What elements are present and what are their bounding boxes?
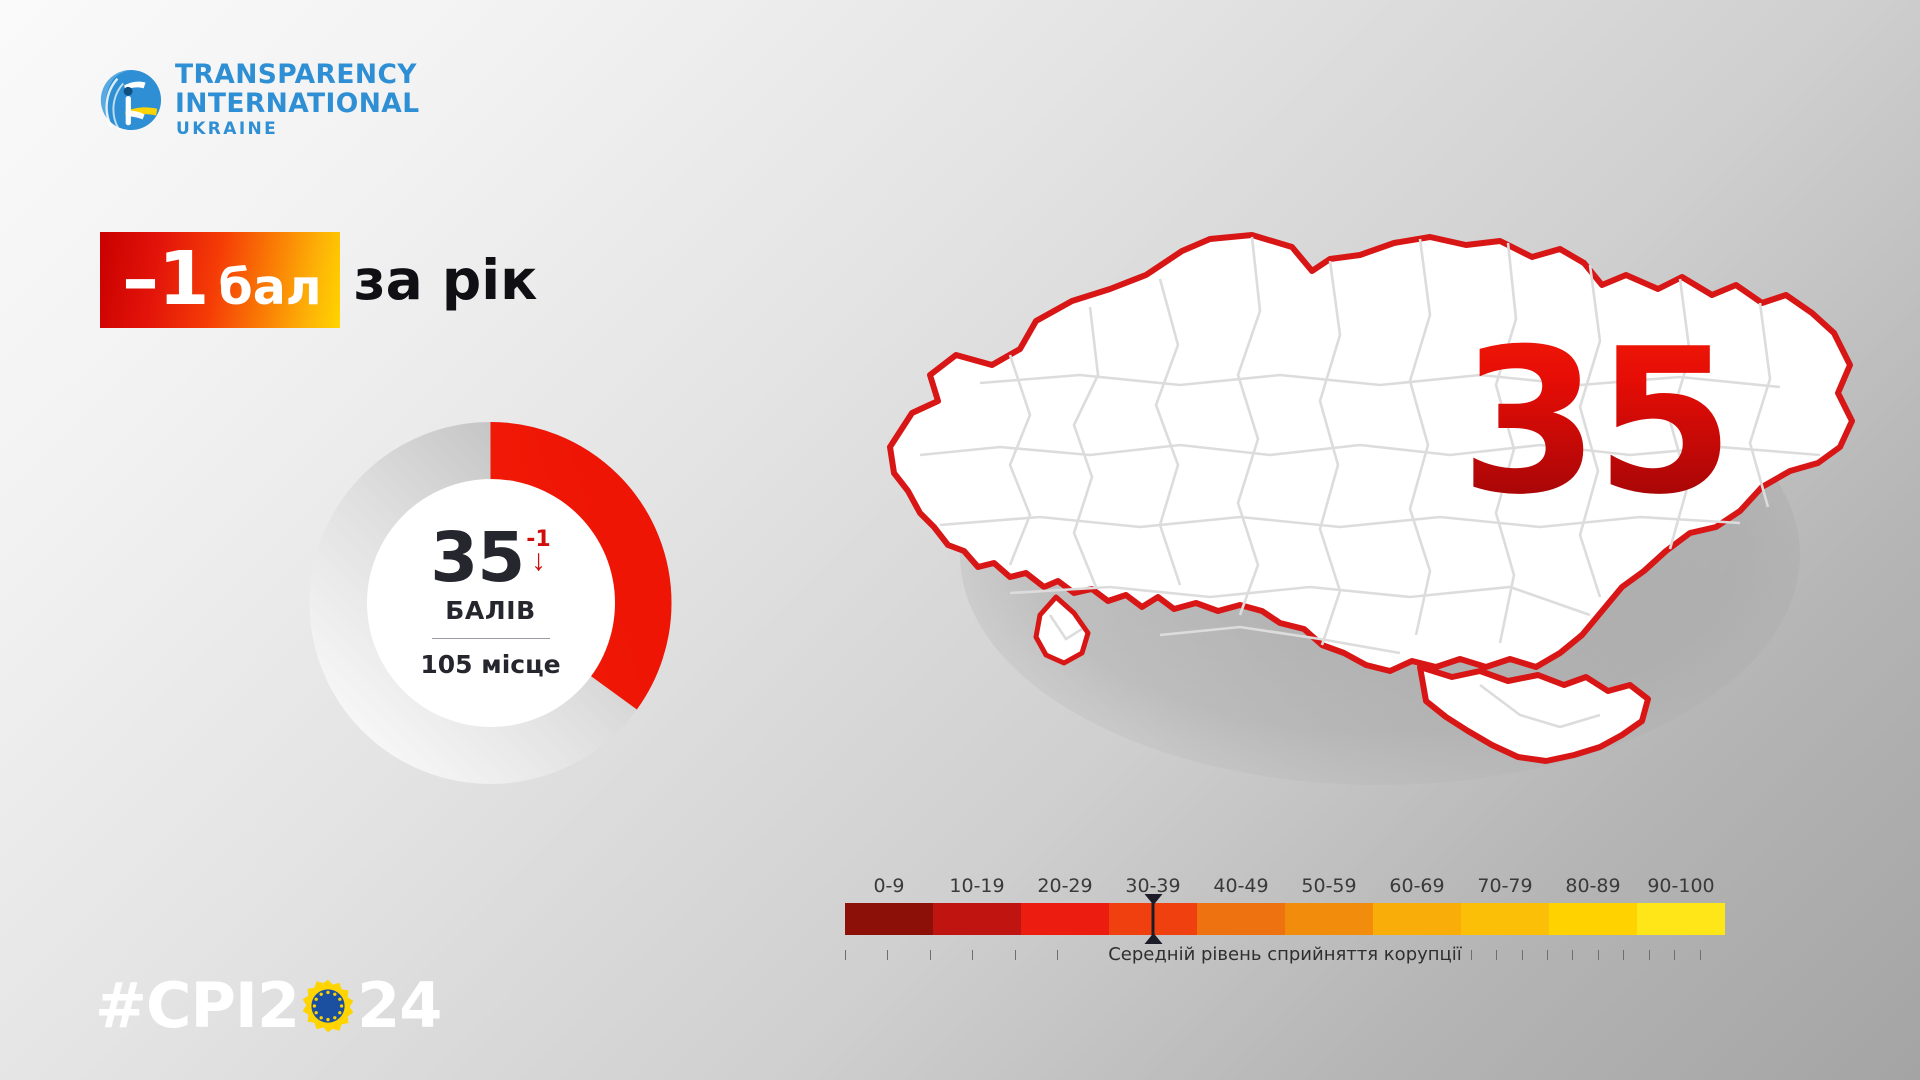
legend-footer: Середній рівень сприйняття корупції xyxy=(845,944,1725,965)
logo: TRANSPARENCY INTERNATIONAL UKRAINE xyxy=(100,62,420,138)
score-unit-label: БАЛІВ xyxy=(445,596,536,625)
legend-label: 50-59 xyxy=(1285,875,1373,897)
ti-globe-icon xyxy=(100,69,162,131)
badge-value: –1 xyxy=(122,244,209,314)
campaign-hashtag: #CPI2 24 xyxy=(95,975,441,1037)
rank-label: 105 місце xyxy=(420,650,560,679)
legend-color-bar xyxy=(845,903,1725,935)
cpi-scale-legend: 0-9 10-19 20-29 30-39 40-49 50-59 60-69 … xyxy=(845,875,1725,965)
legend-band xyxy=(1549,903,1637,935)
legend-labels: 0-9 10-19 20-29 30-39 40-49 50-59 60-69 … xyxy=(845,875,1725,897)
headline-tail: за рік xyxy=(354,253,538,308)
legend-band xyxy=(1021,903,1109,935)
eu-gear-icon xyxy=(300,978,356,1034)
infographic-canvas: TRANSPARENCY INTERNATIONAL UKRAINE –1 ба… xyxy=(0,0,1920,1080)
legend-label: 0-9 xyxy=(845,875,933,897)
legend-caption: Середній рівень сприйняття корупції xyxy=(1108,944,1462,965)
legend-label: 40-49 xyxy=(1197,875,1285,897)
arrow-down-icon: ↓ xyxy=(531,549,546,573)
legend-band xyxy=(1461,903,1549,935)
score-change-badge: –1 бал xyxy=(100,232,340,328)
map-score-value: 35 xyxy=(1460,323,1730,523)
legend-band xyxy=(845,903,933,935)
legend-ticks-left xyxy=(845,950,1099,960)
legend-label: 60-69 xyxy=(1373,875,1461,897)
score-row: 35 -1 ↓ xyxy=(430,527,550,589)
headline: –1 бал за рік xyxy=(100,232,537,328)
legend-band xyxy=(1373,903,1461,935)
legend-band xyxy=(1285,903,1373,935)
score-donut-chart: 35 -1 ↓ БАЛІВ 105 місце xyxy=(283,408,698,798)
legend-label: 80-89 xyxy=(1549,875,1637,897)
ukraine-map: 35 xyxy=(860,215,1870,835)
legend-band xyxy=(933,903,1021,935)
logo-line-1: TRANSPARENCY xyxy=(175,62,420,89)
hashtag-part-1: #CPI2 xyxy=(95,975,299,1037)
legend-label: 10-19 xyxy=(933,875,1021,897)
score-marker-pin xyxy=(1152,894,1155,944)
logo-line-3: UKRAINE xyxy=(176,121,420,138)
legend-label: 20-29 xyxy=(1021,875,1109,897)
logo-line-2: INTERNATIONAL xyxy=(175,91,420,118)
legend-band xyxy=(1637,903,1725,935)
legend-ticks-right xyxy=(1471,950,1725,960)
donut-center-panel: 35 -1 ↓ БАЛІВ 105 місце xyxy=(367,479,615,727)
hashtag-part-2: 24 xyxy=(357,975,441,1037)
legend-label: 90-100 xyxy=(1637,875,1725,897)
legend-band xyxy=(1197,903,1285,935)
score-delta: -1 ↓ xyxy=(526,529,550,573)
legend-label: 70-79 xyxy=(1461,875,1549,897)
badge-unit: бал xyxy=(219,263,322,312)
divider xyxy=(432,638,550,640)
score-value: 35 xyxy=(430,527,524,589)
